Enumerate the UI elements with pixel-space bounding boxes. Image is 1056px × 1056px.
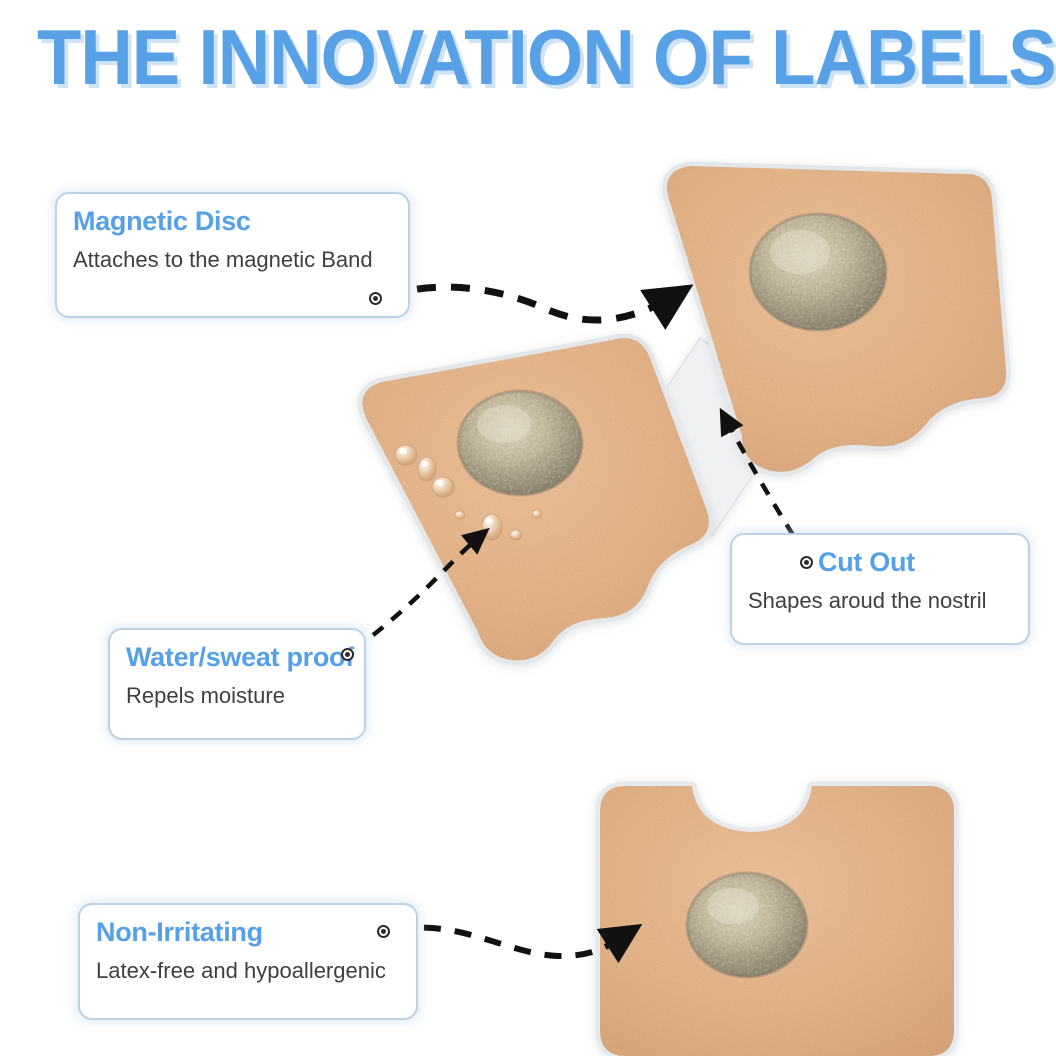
product-illustration bbox=[0, 0, 1056, 1056]
infographic-canvas: THE INNOVATION OF LABELS bbox=[0, 0, 1056, 1056]
connector-dot-magnetic-disc bbox=[369, 292, 382, 305]
callout-cut-out[interactable]: Cut Out Shapes aroud the nostril bbox=[730, 533, 1030, 645]
callout-water-proof[interactable]: Water/sweat proof Repels moisture bbox=[108, 628, 366, 740]
callout-magnetic-disc[interactable]: Magnetic Disc Attaches to the magnetic B… bbox=[55, 192, 410, 318]
callout-non-irritating-title: Non-Irritating bbox=[96, 917, 400, 948]
connector-dot-cut-out bbox=[800, 556, 813, 569]
callout-water-proof-body: Repels moisture bbox=[126, 682, 348, 711]
callout-cut-out-title: Cut Out bbox=[818, 547, 1012, 578]
magnetic-disc-left bbox=[458, 391, 582, 495]
callout-non-irritating[interactable]: Non-Irritating Latex-free and hypoallerg… bbox=[78, 903, 418, 1020]
magnetic-disc-bottom bbox=[687, 873, 807, 977]
callout-magnetic-disc-body: Attaches to the magnetic Band bbox=[73, 246, 392, 275]
connector-magnetic-disc bbox=[384, 287, 686, 320]
callout-magnetic-disc-title: Magnetic Disc bbox=[73, 206, 392, 237]
callout-non-irritating-body: Latex-free and hypoallergenic bbox=[96, 957, 400, 986]
callout-water-proof-title: Water/sweat proof bbox=[126, 642, 348, 673]
connector-dot-non-irritating bbox=[377, 925, 390, 938]
connector-dot-water-proof bbox=[341, 648, 354, 661]
callout-cut-out-body: Shapes aroud the nostril bbox=[748, 587, 1012, 616]
magnetic-disc-upper bbox=[750, 214, 886, 330]
patch-left bbox=[362, 338, 709, 660]
